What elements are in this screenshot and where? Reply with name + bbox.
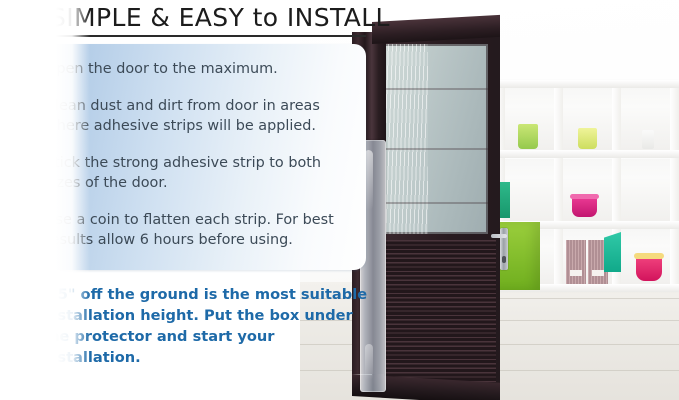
door-louver-panel bbox=[384, 240, 496, 392]
step-text: Open the door to the maximum. bbox=[45, 59, 350, 79]
keyhole bbox=[502, 256, 506, 263]
magenta-pot-upper bbox=[572, 196, 597, 217]
door-leaf bbox=[372, 36, 500, 386]
door-handle bbox=[500, 228, 508, 270]
note-text: 3.5" off the ground is the most suitable… bbox=[42, 284, 368, 368]
magazine-label-2 bbox=[592, 270, 604, 276]
small-white-jar bbox=[642, 130, 654, 149]
page-title: SIMPLE & EASY to INSTALL bbox=[50, 3, 390, 32]
photo-fade-overlay bbox=[0, 0, 90, 400]
yellow-green-cup bbox=[578, 128, 597, 149]
pink-pot-lower bbox=[636, 256, 662, 281]
door-glass-panel bbox=[384, 44, 488, 234]
step-text: Stick the strong adhesive strip to both … bbox=[45, 153, 350, 193]
magazine-file-1 bbox=[566, 240, 586, 284]
title-underline bbox=[50, 35, 366, 37]
curtain-reflection bbox=[384, 44, 428, 234]
magenta-pot-upper-rim bbox=[570, 194, 599, 199]
step-text: Clean dust and dirt from door in areas w… bbox=[45, 96, 350, 136]
magazine-label-1 bbox=[570, 270, 582, 276]
handle-lever bbox=[491, 234, 507, 238]
teal-folder bbox=[604, 232, 621, 272]
pink-pot-lower-rim bbox=[634, 253, 664, 259]
product-infographic: SIMPLE & EASY to INSTALL 1.Open the door… bbox=[0, 0, 679, 400]
step-text: Use a coin to flatten each strip. For be… bbox=[45, 210, 350, 250]
door bbox=[352, 22, 500, 374]
green-cup bbox=[518, 124, 538, 149]
